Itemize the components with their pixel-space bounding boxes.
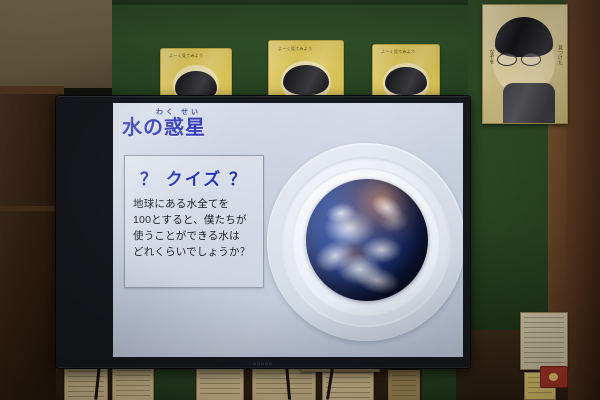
title-furigana: わく せい [156,109,206,116]
paper-text-lines [116,365,150,398]
slide-title-block: わく せい 水の惑星 [122,109,206,140]
earth-photo [306,179,428,301]
paper-text-lines [392,375,416,398]
wall-paper [64,366,108,400]
television-display[interactable]: わく せい 水の惑星 ？ クイズ ？ 地球にある水全てを 100とすると、僕たち… [56,96,470,368]
quiz-text-box: ？ クイズ ？ 地球にある水全てを 100とすると、僕たちが 使うことができる水… [124,155,264,288]
wall-paper [196,363,244,400]
quiz-line-2: 100とすると、僕たちが [133,213,263,229]
poster-left: よーく見てみよう [160,48,232,102]
wall-notice-sheet [520,312,568,370]
wall-wood-panel-left [0,86,64,400]
conan-glasses-icon [521,53,541,66]
quiz-line-3: 使うことができる水は [133,229,263,245]
red-object [540,366,568,388]
wall-paper [388,370,420,400]
quiz-line-4: どれくらいでしょうか？ [133,245,263,261]
paper-text-lines [524,317,564,366]
wall-upper-left [0,0,120,88]
page-title: 水の惑星 [122,117,206,140]
poster-right: よーく見てみよう [372,44,440,102]
presentation-slide[interactable]: わく せい 水の惑星 ？ クイズ ？ 地球にある水全てを 100とすると、僕たち… [113,103,463,357]
quiz-heading: ？ クイズ ？ [125,165,263,190]
poster-center: よーく見てみよう [268,40,344,102]
poster-right-caption: よーく見てみよう [381,49,415,55]
quiz-body: 地球にある水全てを 100とすると、僕たちが 使うことができる水は どれくらいで… [133,197,263,261]
poster-conan-caption-right: 見つけた [557,45,564,65]
poster-left-caption: よーく見てみよう [169,53,203,59]
poster-center-caption: よーく見てみよう [278,46,312,52]
poster-hair-icon [385,67,427,95]
paper-text-lines [200,368,240,398]
quiz-line-1: 地球にある水全てを [133,197,263,213]
earth-shading [306,179,428,301]
earth-image-frame [261,137,463,349]
conan-glasses-icon [497,53,517,66]
wall-wood-trim-right [566,0,600,400]
conan-body-icon [503,83,555,124]
classroom-scene: よーく見てみよう よーく見てみよう よーく見てみよう 見つけた なぞを [0,0,600,400]
poster-conan-caption-left: なぞを [488,49,495,64]
poster-hair-icon [283,65,329,95]
conan-hair-icon [495,17,553,57]
tv-brand-label: AQUOS [253,361,272,366]
poster-conan: 見つけた なぞを [482,4,568,124]
chalkboard-frame-top [112,0,512,5]
